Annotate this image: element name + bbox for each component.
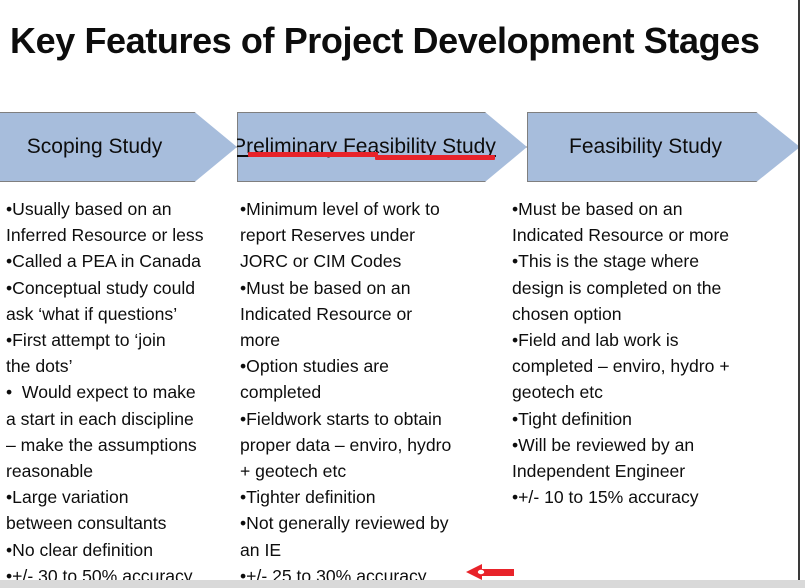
bullet-line: Independent Engineer bbox=[512, 458, 792, 484]
page-bottom-strip bbox=[0, 580, 805, 588]
bullet-line: JORC or CIM Codes bbox=[240, 248, 502, 274]
page-title: Key Features of Project Development Stag… bbox=[10, 22, 790, 60]
red-underline-annotation-stroke-1 bbox=[248, 152, 378, 157]
bullet-line: •Must be based on an bbox=[512, 196, 792, 222]
bullet-line: •First attempt to ‘join bbox=[6, 327, 234, 353]
bullet-line: the dots’ bbox=[6, 353, 234, 379]
column-scoping-study: •Usually based on an Inferred Resource o… bbox=[6, 196, 234, 588]
bullet-line: •Tighter definition bbox=[240, 484, 502, 510]
bullet-line: •+/- 10 to 15% accuracy bbox=[512, 484, 792, 510]
bullet-line: •Will be reviewed by an bbox=[512, 432, 792, 458]
bullet-line: • Would expect to make bbox=[6, 379, 234, 405]
bullet-line: completed bbox=[240, 379, 502, 405]
stage-chevron-feasibility-study[interactable]: Feasibility Study bbox=[527, 112, 800, 182]
bullet-line: between consultants bbox=[6, 510, 234, 536]
bullet-line: •Tight definition bbox=[512, 406, 792, 432]
arrow-left-icon bbox=[466, 563, 514, 581]
stage-chevron-band: Scoping Study Preliminary Feasibility St… bbox=[0, 112, 805, 182]
bullet-line: Indicated Resource or bbox=[240, 301, 502, 327]
stage-chevron-label: Feasibility Study bbox=[569, 135, 722, 159]
bullet-line: •No clear definition bbox=[6, 537, 234, 563]
bullet-line: more bbox=[240, 327, 502, 353]
bullet-line: •Fieldwork starts to obtain bbox=[240, 406, 502, 432]
bullet-line: report Reserves under bbox=[240, 222, 502, 248]
bullet-line: •Not generally reviewed by bbox=[240, 510, 502, 536]
page-border-right bbox=[798, 0, 800, 588]
bullet-line: •Field and lab work is bbox=[512, 327, 792, 353]
bullet-line: ask ‘what if questions’ bbox=[6, 301, 234, 327]
bullet-line: completed – enviro, hydro + bbox=[512, 353, 792, 379]
bullet-line: •Called a PEA in Canada bbox=[6, 248, 234, 274]
bullet-line: •Must be based on an bbox=[240, 275, 502, 301]
bullet-line: an IE bbox=[240, 537, 502, 563]
bullet-line: proper data – enviro, hydro bbox=[240, 432, 502, 458]
stage-detail-columns: •Usually based on an Inferred Resource o… bbox=[0, 196, 805, 588]
bullet-line: a start in each discipline bbox=[6, 406, 234, 432]
slide-canvas: Key Features of Project Development Stag… bbox=[0, 0, 805, 588]
column-feasibility-study: •Must be based on an Indicated Resource … bbox=[512, 196, 792, 510]
bullet-line: – make the assumptions bbox=[6, 432, 234, 458]
column-preliminary-feasibility-study: •Minimum level of work to report Reserve… bbox=[240, 196, 502, 588]
bullet-line: + geotech etc bbox=[240, 458, 502, 484]
stage-chevron-label: Scoping Study bbox=[27, 135, 162, 159]
bullet-line: •Option studies are bbox=[240, 353, 502, 379]
bullet-line: reasonable bbox=[6, 458, 234, 484]
bullet-line: chosen option bbox=[512, 301, 792, 327]
bullet-line: •Large variation bbox=[6, 484, 234, 510]
red-arrow-annotation bbox=[466, 563, 514, 581]
bullet-line: •Minimum level of work to bbox=[240, 196, 502, 222]
bullet-line: •Usually based on an bbox=[6, 196, 234, 222]
stage-chevron-preliminary-feasibility-study[interactable]: Preliminary Feasibility Study bbox=[237, 112, 527, 182]
bullet-line: Indicated Resource or more bbox=[512, 222, 792, 248]
red-underline-annotation-stroke-2 bbox=[375, 155, 495, 160]
bullet-line: Inferred Resource or less bbox=[6, 222, 234, 248]
bullet-line: geotech etc bbox=[512, 379, 792, 405]
bullet-line: •Conceptual study could bbox=[6, 275, 234, 301]
bullet-line: •This is the stage where bbox=[512, 248, 792, 274]
stage-chevron-scoping-study[interactable]: Scoping Study bbox=[0, 112, 237, 182]
bullet-line: design is completed on the bbox=[512, 275, 792, 301]
